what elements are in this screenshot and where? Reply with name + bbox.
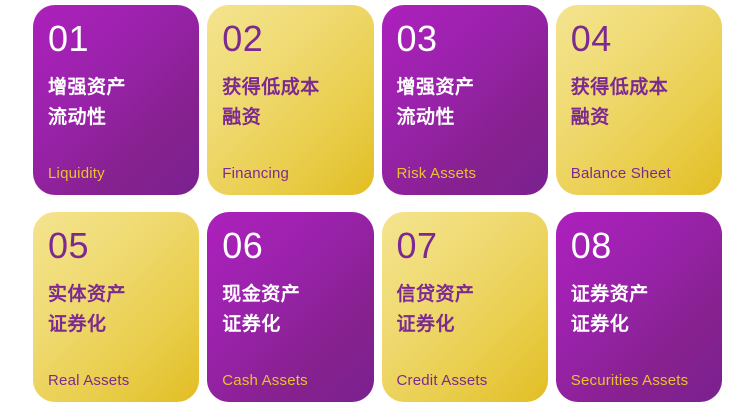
card-title: 证券资产 证券化 [571,280,707,340]
card-number: 05 [48,226,184,266]
card-title: 增强资产 流动性 [397,73,533,133]
card-caption: Financing [222,164,358,183]
info-card-02[interactable]: 02 获得低成本 融资 Financing [207,5,373,195]
card-caption: Cash Assets [222,371,358,390]
card-title: 实体资产 证券化 [48,280,184,340]
info-card-03[interactable]: 03 增强资产 流动性 Risk Assets [382,5,548,195]
info-card-05[interactable]: 05 实体资产 证券化 Real Assets [33,212,199,402]
card-grid: 01 增强资产 流动性 Liquidity 02 获得低成本 融资 Financ… [0,0,750,410]
card-caption: Risk Assets [397,164,533,183]
card-caption: Liquidity [48,164,184,183]
card-number: 08 [571,226,707,266]
card-number: 01 [48,19,184,59]
card-number: 04 [571,19,707,59]
card-title: 信贷资产 证券化 [397,280,533,340]
card-title: 现金资产 证券化 [222,280,358,340]
info-card-06[interactable]: 06 现金资产 证券化 Cash Assets [207,212,373,402]
card-title: 获得低成本 融资 [222,73,358,133]
info-card-07[interactable]: 07 信贷资产 证券化 Credit Assets [382,212,548,402]
card-number: 03 [397,19,533,59]
card-title: 获得低成本 融资 [571,73,707,133]
info-card-04[interactable]: 04 获得低成本 融资 Balance Sheet [556,5,722,195]
card-title: 增强资产 流动性 [48,73,184,133]
info-card-08[interactable]: 08 证券资产 证券化 Securities Assets [556,212,722,402]
card-caption: Real Assets [48,371,184,390]
card-number: 02 [222,19,358,59]
card-caption: Securities Assets [571,371,707,390]
card-caption: Balance Sheet [571,164,707,183]
card-number: 07 [397,226,533,266]
info-card-01[interactable]: 01 增强资产 流动性 Liquidity [33,5,199,195]
card-caption: Credit Assets [397,371,533,390]
card-number: 06 [222,226,358,266]
